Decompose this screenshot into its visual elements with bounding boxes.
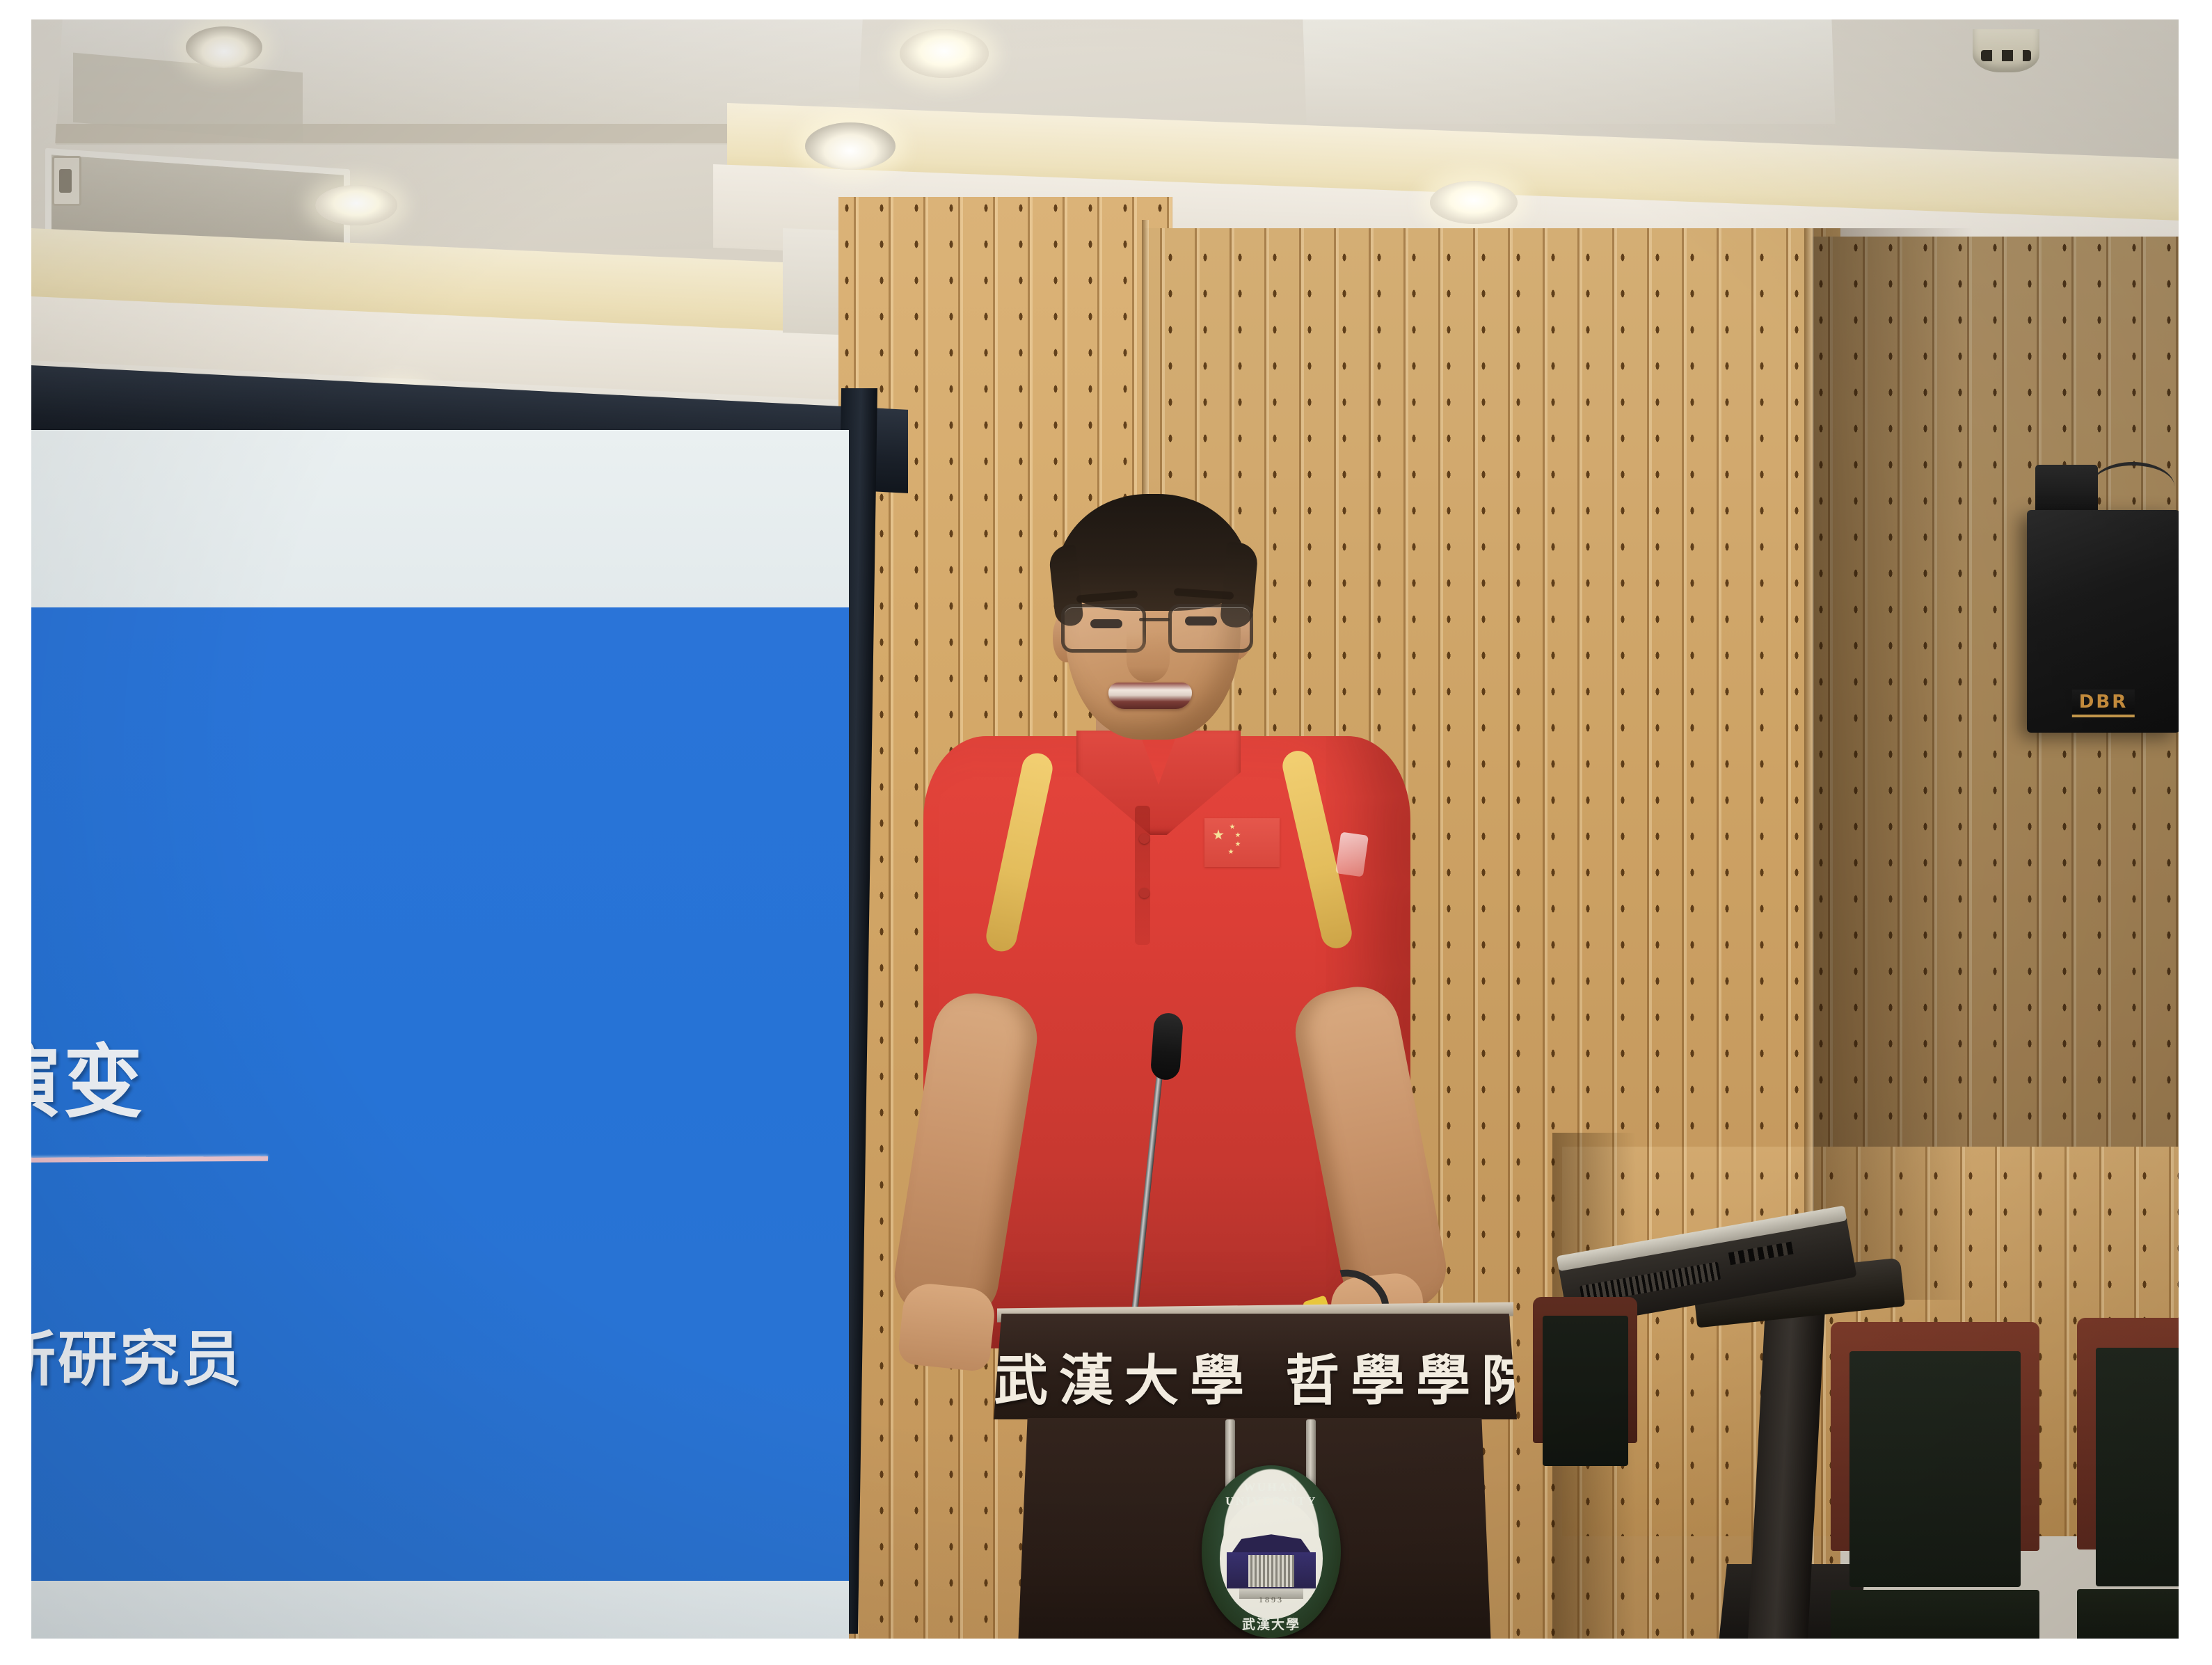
smoke-detector-icon — [1973, 29, 2039, 72]
speaker-brand-label: DBR — [2072, 690, 2135, 717]
projection-screen: 想 想演变 究所研究员 — [31, 430, 849, 1639]
chair-seat — [2077, 1589, 2179, 1639]
chair-back-pad — [1849, 1351, 2021, 1586]
wall-switch[interactable] — [52, 156, 81, 206]
slide-byline: 究所研究员 — [31, 1310, 244, 1397]
flag-star-large — [1213, 829, 1224, 841]
chair — [1533, 1297, 1637, 1506]
pagoda-roof — [1232, 1534, 1311, 1552]
chair-back-pad — [2096, 1348, 2179, 1586]
shirt-button — [1139, 888, 1149, 898]
wall-speaker: DBR — [2027, 510, 2179, 733]
ceiling-recess-right — [1303, 19, 1835, 124]
flag-star-small — [1235, 841, 1241, 847]
mouth — [1108, 683, 1192, 709]
chair — [1831, 1322, 2039, 1639]
microphone-icon — [1150, 1012, 1184, 1081]
wuhan-university-emblem: WUHAN UNIVERSITY 1893 武漢大學 — [1202, 1465, 1341, 1638]
photo-frame: DBR 想 想演变 究所研究员 — [0, 0, 2212, 1665]
chinese-flag-patch — [1204, 818, 1280, 867]
chair-seat — [1831, 1590, 2039, 1639]
chair-back-pad — [1543, 1316, 1628, 1466]
wall-shadow — [1813, 228, 1973, 1300]
glasses-bridge — [1139, 618, 1170, 621]
sleeve-logo — [1335, 832, 1369, 877]
emblem-chinese-name: 武漢大學 — [1202, 1614, 1341, 1633]
podium-nameplate: 武漢大學 哲學學院 — [994, 1314, 1517, 1419]
flag-star-small — [1230, 824, 1235, 829]
podium-nameplate-text: 武漢大學 哲學學院 — [994, 1337, 1517, 1415]
pagoda-columns — [1248, 1555, 1295, 1587]
downlight-icon — [805, 122, 896, 170]
slide-divider-rule — [31, 1156, 268, 1163]
photograph: DBR 想 想演变 究所研究员 — [31, 19, 2179, 1639]
slide-bottom-band — [31, 1581, 849, 1639]
emblem-year: 1893 — [1202, 1595, 1341, 1605]
shirt-button — [1139, 834, 1149, 844]
downlight-icon — [1430, 181, 1518, 224]
flag-star-small — [1235, 832, 1241, 838]
emblem-pagoda-icon — [1227, 1534, 1316, 1603]
downlight-icon — [186, 26, 262, 68]
slide-title-line-2: 想演变 — [31, 1018, 145, 1133]
shirt-placket — [1135, 806, 1150, 945]
chair — [2077, 1318, 2179, 1639]
nose — [1127, 632, 1170, 682]
downlight-icon — [315, 185, 397, 225]
emblem-arc-text: WUHAN UNIVERSITY — [1202, 1481, 1341, 1508]
hand-left — [897, 1281, 997, 1372]
flag-star-small — [1228, 849, 1234, 854]
lens-right — [1168, 604, 1253, 653]
downlight-icon — [900, 29, 989, 78]
slide-content-area: 想 想演变 究所研究员 — [31, 607, 849, 1582]
slide-top-band — [31, 430, 849, 607]
